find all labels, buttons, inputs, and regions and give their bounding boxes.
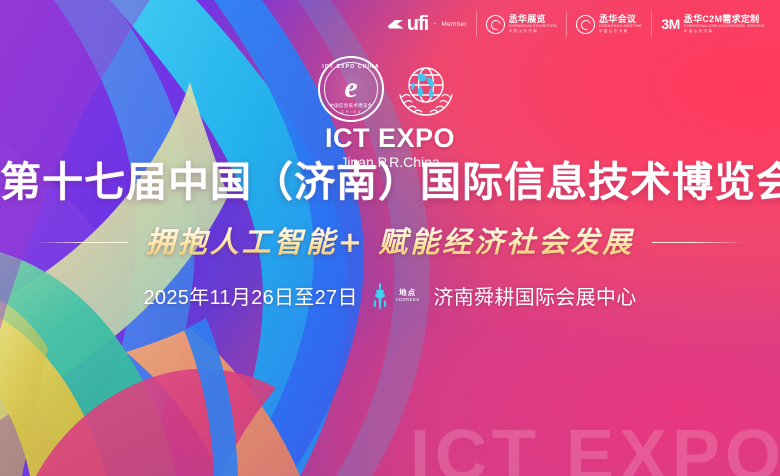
- partner-name-cn: 丞华会议: [599, 15, 642, 24]
- event-emblem: ICT EXPO CHINA e 中国信息技术博览会 C H I N A: [0, 56, 780, 170]
- expo-wordmark: ICT EXPO: [325, 125, 455, 152]
- event-info-row: 2025年11月26日至27日 地点 ADDRESS 济南舜耕国际会展中心: [0, 281, 780, 310]
- partner-logo-chenghua-meeting: 丞华会议 CHENGHUA MEETING 中 国 山 东 济 南: [566, 11, 651, 37]
- 3m-c2m-icon: 3M: [661, 17, 679, 31]
- subtitle-text: 拥抱人工智能+ 赋能经济社会发展: [146, 226, 634, 259]
- chenghua-exhibition-icon: [486, 15, 505, 34]
- subtitle-rule-left: [36, 242, 128, 244]
- partner-logo-bar: ufi · Member 丞华展览 CHENGHUA EXHIBITION 中 …: [388, 9, 774, 39]
- address-badge: 地点 ADDRESS: [396, 289, 420, 302]
- ufi-swoosh-icon: [388, 20, 404, 29]
- ufi-member-label: Member: [442, 21, 467, 28]
- chenghua-meeting-icon: [576, 15, 595, 34]
- partner-logo-chenghua-exhibition: 丞华展览 CHENGHUA EXHIBITION 中 国 山 东 济 南: [476, 11, 566, 37]
- event-venue: 济南舜耕国际会展中心: [434, 281, 637, 310]
- globe-laurel-icon: [390, 57, 462, 121]
- ict-expo-seal-icon: ICT EXPO CHINA e 中国信息技术博览会 C H I N A: [318, 56, 384, 122]
- seal-subtext: 中国信息技术博览会: [320, 103, 382, 109]
- partner-region: 中 国 山 东 济 南: [509, 30, 557, 33]
- ufi-logo: ufi · Member: [388, 14, 476, 34]
- ufi-wordmark: ufi: [407, 14, 428, 34]
- jinan-tower-icon: [372, 283, 388, 309]
- subtitle-row: 拥抱人工智能+ 赋能经济社会发展: [0, 226, 780, 259]
- subtitle-rule-right: [652, 242, 744, 244]
- partner-name-cn: 丞华C2M需求定制: [684, 15, 765, 24]
- partner-name-cn: 丞华展览: [509, 15, 557, 24]
- page-title: 第十七届中国（济南）国际信息技术博览会: [0, 160, 780, 205]
- ufi-dot: ·: [433, 19, 436, 29]
- ict-expo-poster: ufi · Member 丞华展览 CHENGHUA EXHIBITION 中 …: [0, 0, 780, 476]
- address-label-en: ADDRESS: [396, 298, 420, 302]
- seal-arc-text: ICT EXPO CHINA: [320, 64, 382, 70]
- partner-logo-c2m: 3M 丞华C2M需求定制 CHENGHUA C2M CUSTOMIZED SER…: [651, 11, 774, 37]
- partner-region: 中 国 山 东 济 南: [599, 30, 642, 33]
- partner-region: 中 国 山 东 济 南: [684, 30, 765, 33]
- address-label-cn: 地点: [399, 289, 416, 297]
- event-date: 2025年11月26日至27日: [144, 281, 358, 310]
- seal-letter: e: [344, 73, 357, 103]
- seal-subtext-secondary: C H I N A: [320, 110, 382, 114]
